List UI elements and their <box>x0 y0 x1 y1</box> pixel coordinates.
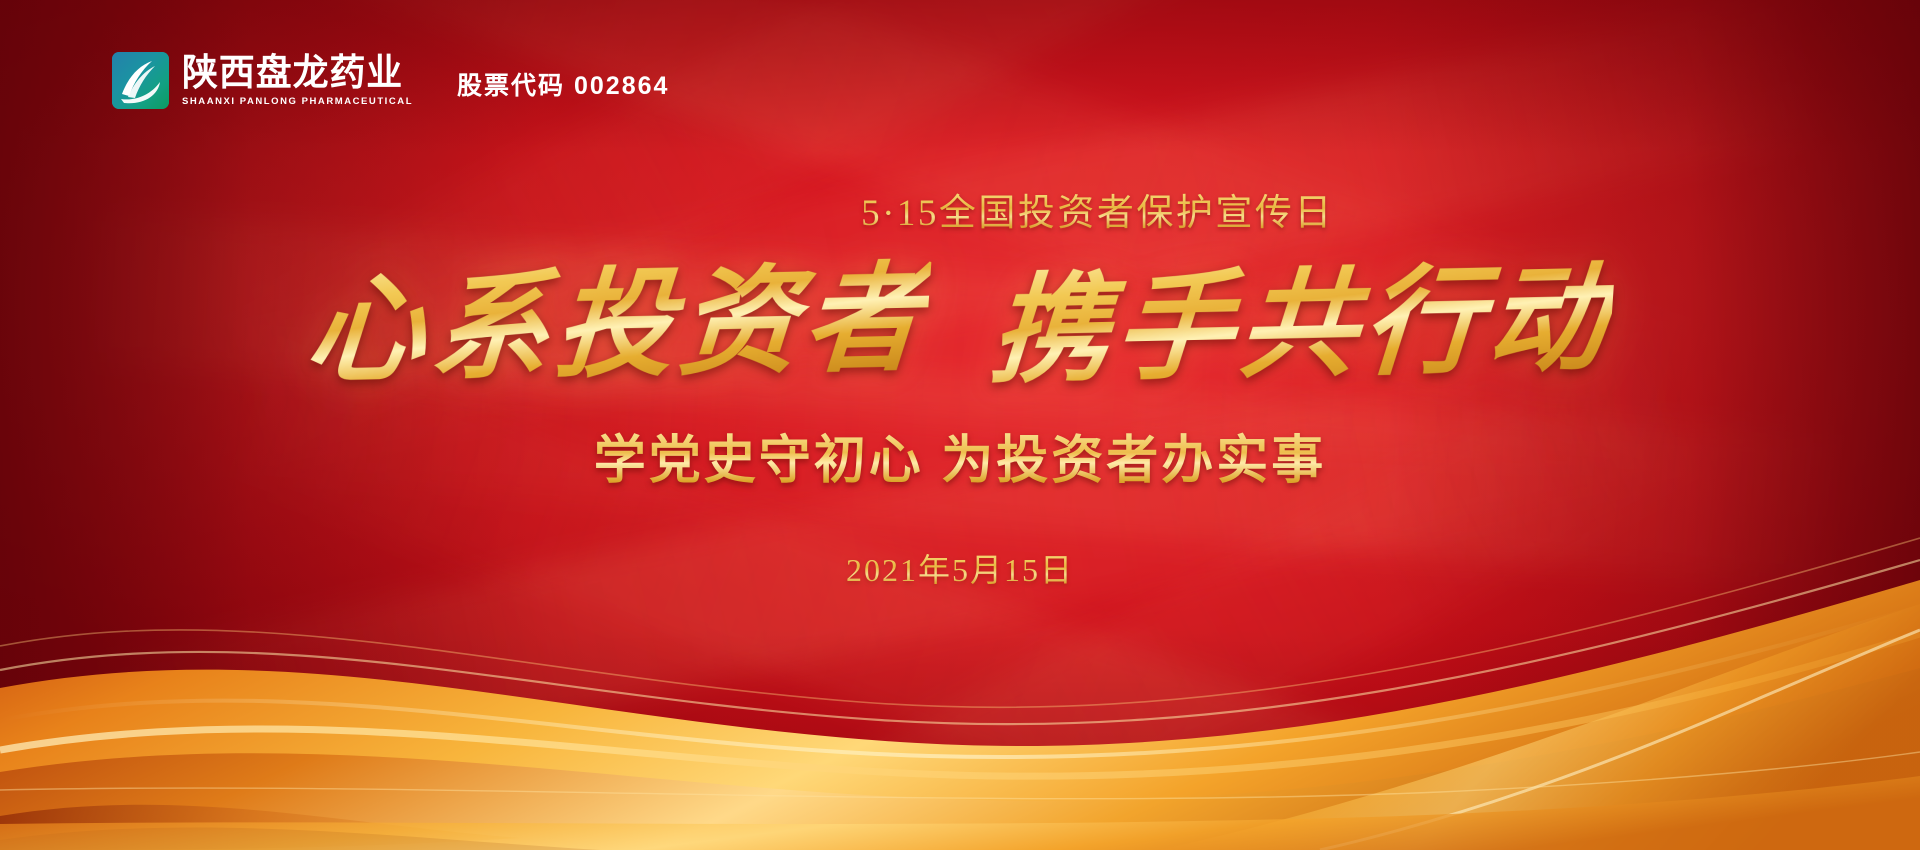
panlong-swoosh-logo-icon <box>112 52 169 109</box>
main-headline: 心系投资者 携手共行动 <box>0 228 1920 399</box>
company-name-en: SHAANXI PANLONG PHARMACEUTICAL <box>182 96 413 107</box>
event-date-text: 2021年5月15日 <box>846 545 1074 591</box>
company-name-cn: 陕西盘龙药业 <box>182 54 406 92</box>
event-date: 2021年5月15日 <box>0 545 1920 591</box>
headline-part-1: 心系投资者 <box>301 222 933 406</box>
stock-code-label: 股票代码 002864 <box>457 60 669 102</box>
company-name-block: 陕西盘龙药业 SHAANXI PANLONG PHARMACEUTICAL <box>182 54 413 107</box>
company-header: 陕西盘龙药业 SHAANXI PANLONG PHARMACEUTICAL 股票… <box>112 52 669 109</box>
slogan-subtitle-text: 学党史守初心 为投资者办实事 <box>594 418 1326 493</box>
slogan-subtitle: 学党史守初心 为投资者办实事 <box>0 418 1920 493</box>
headline-part-2: 携手共行动 <box>986 222 1618 406</box>
promotional-banner: 陕西盘龙药业 SHAANXI PANLONG PHARMACEUTICAL 股票… <box>0 0 1920 850</box>
